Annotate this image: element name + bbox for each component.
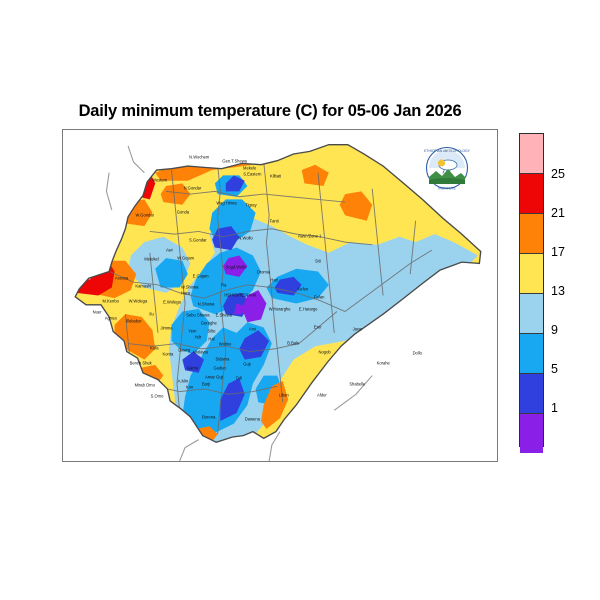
colorbar-band	[520, 173, 543, 213]
colorbar	[519, 133, 544, 447]
colorbar-tick-label: 13	[551, 284, 565, 298]
colorbar-tick-label: 21	[551, 206, 565, 220]
y-axis-tick	[62, 382, 63, 383]
colorbar-band	[520, 333, 543, 373]
x-axis-tick	[210, 461, 211, 462]
y-axis-tick	[62, 221, 63, 222]
page-title: Daily minimum temperature (C) for 05-06 …	[0, 102, 540, 121]
colorbar-band	[520, 373, 543, 413]
x-axis-tick	[483, 461, 484, 462]
x-axis-tick	[101, 461, 102, 462]
y-axis-tick	[62, 168, 63, 169]
x-axis-tick	[374, 461, 375, 462]
svg-text:ETHIOPIAN METEOROLOGY: ETHIOPIAN METEOROLOGY	[424, 149, 471, 153]
colorbar-tick-label: 25	[551, 167, 565, 181]
colorbar-band	[520, 413, 543, 453]
colorbar-tick-label: 17	[551, 245, 565, 259]
colorbar-band	[520, 293, 543, 333]
ethiopian-meteorology-institute-logo: ETHIOPIAN METEOROLOGY INSTITUTE	[421, 146, 473, 193]
y-axis-tick	[62, 436, 63, 437]
colorbar-tick-label: 9	[551, 323, 558, 337]
y-axis-tick	[62, 329, 63, 330]
colorbar-band	[520, 253, 543, 293]
x-axis-tick	[156, 461, 157, 462]
svg-text:INSTITUTE: INSTITUTE	[438, 187, 456, 191]
colorbar-band	[520, 134, 543, 173]
colorbar-tick-label: 1	[551, 401, 558, 415]
colorbar-band	[520, 213, 543, 253]
y-axis-tick	[62, 275, 63, 276]
x-axis-tick	[428, 461, 429, 462]
x-axis-tick	[319, 461, 320, 462]
x-axis-tick	[265, 461, 266, 462]
colorbar-tick-label: 5	[551, 362, 558, 376]
